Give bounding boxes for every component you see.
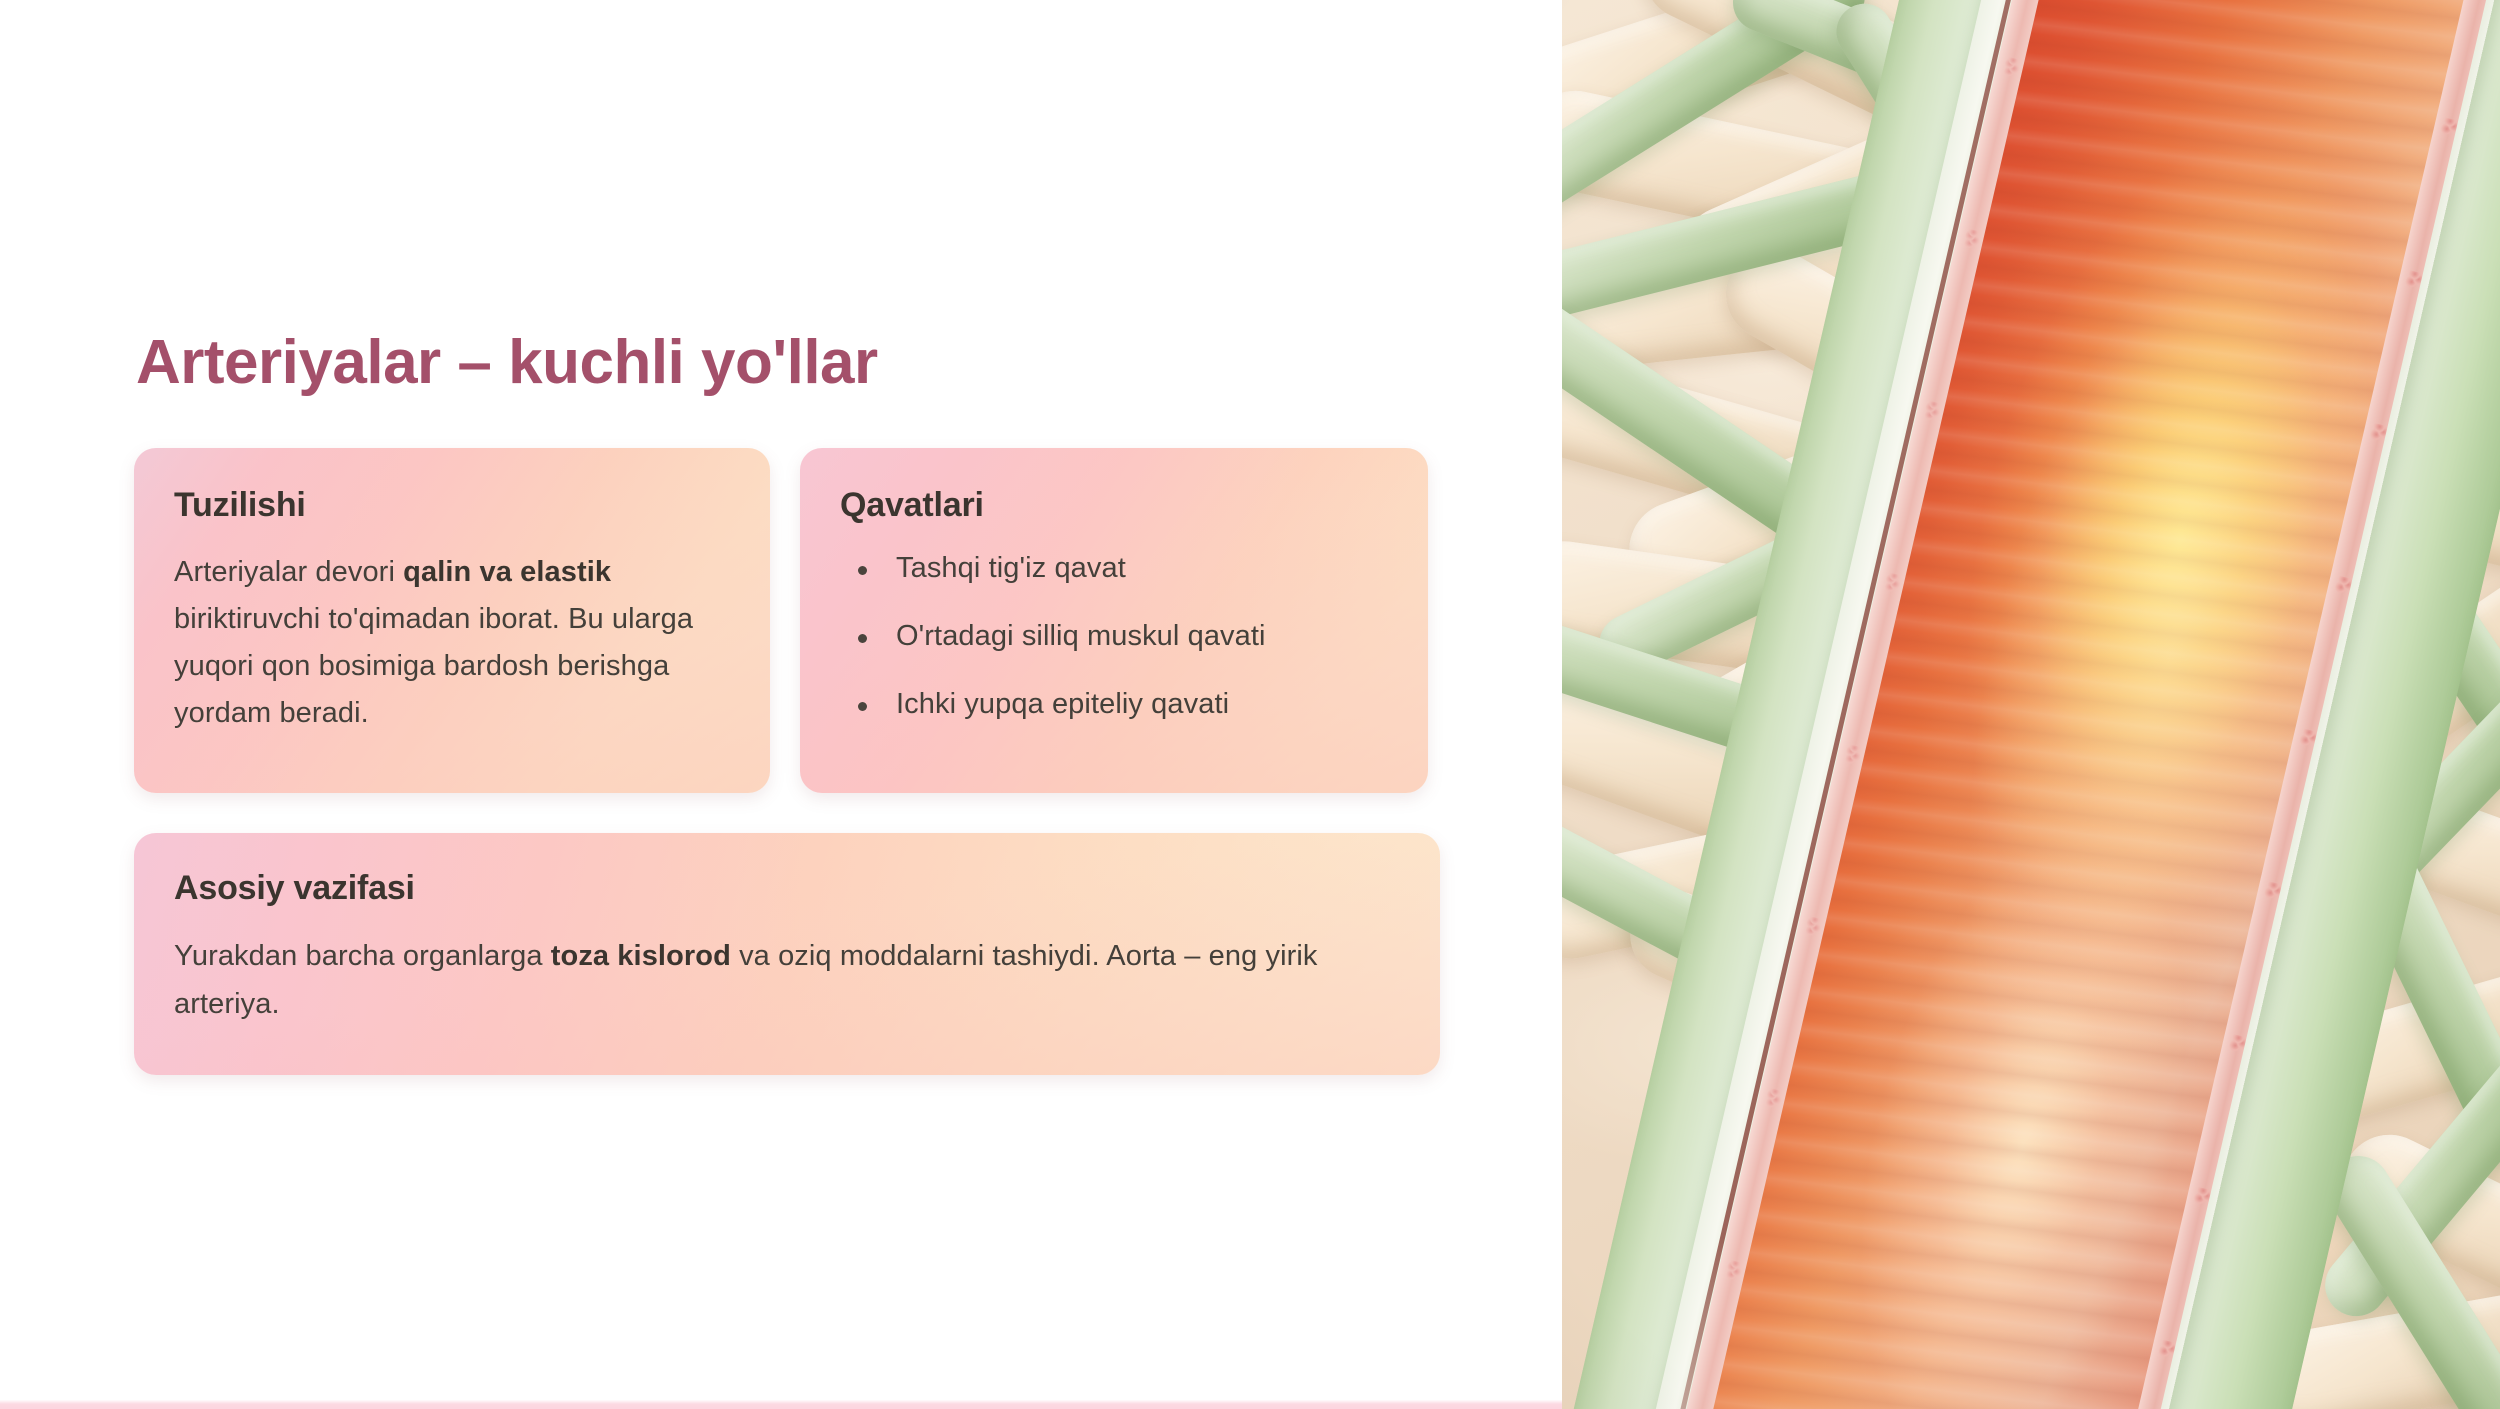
qavatlari-bullet-list: Tashqi tig'iz qavat O'rtadagi silliq mus… — [840, 549, 1388, 724]
card-qavatlari-inner: Qavatlari Tashqi tig'iz qavat O'rtadagi … — [800, 448, 1428, 793]
list-item: O'rtadagi silliq muskul qavati — [840, 617, 1388, 656]
bottom-accent-bar — [0, 1400, 1562, 1409]
card-tuzilishi-title: Tuzilishi — [174, 486, 730, 525]
card-asosiy-vazifasi: Asosiy vazifasi Yurakdan barcha organlar… — [134, 833, 1440, 1075]
card-tuzilishi-body-emphasis: qalin va elastik — [403, 556, 611, 588]
list-item-label: Ichki yupqa epiteliy qavati — [896, 688, 1229, 720]
card-tuzilishi-body-prefix: Arteriyalar devori — [174, 556, 403, 588]
list-item-label: Tashqi tig'iz qavat — [896, 552, 1126, 584]
list-item: Tashqi tig'iz qavat — [840, 549, 1388, 588]
card-tuzilishi-body: Arteriyalar devori qalin va elastik biri… — [174, 549, 730, 737]
card-asosiy-vazifasi-body-emphasis: toza kislorod — [551, 940, 731, 972]
card-tuzilishi: Tuzilishi Arteriyalar devori qalin va el… — [134, 448, 770, 793]
content-pane: Arteriyalar – kuchli yo'llar Tuzilishi A… — [0, 0, 1562, 1409]
card-qavatlari-title: Qavatlari — [840, 486, 1388, 525]
illustration-pane — [1562, 0, 2500, 1409]
card-tuzilishi-inner: Tuzilishi Arteriyalar devori qalin va el… — [134, 448, 770, 793]
list-item-label: O'rtadagi silliq muskul qavati — [896, 620, 1266, 652]
artery-cross-section-illustration — [1562, 0, 2500, 1409]
card-asosiy-vazifasi-body-prefix: Yurakdan barcha organlarga — [174, 940, 551, 972]
bullet-dot-icon — [858, 634, 867, 643]
card-qavatlari: Qavatlari Tashqi tig'iz qavat O'rtadagi … — [800, 448, 1428, 793]
page-title: Arteriyalar – kuchli yo'llar — [136, 327, 878, 398]
bullet-dot-icon — [858, 702, 867, 711]
card-asosiy-vazifasi-title: Asosiy vazifasi — [174, 869, 1400, 908]
list-item: Ichki yupqa epiteliy qavati — [840, 685, 1388, 724]
bullet-dot-icon — [858, 566, 867, 575]
slide-canvas: Arteriyalar – kuchli yo'llar Tuzilishi A… — [0, 0, 2500, 1409]
card-asosiy-vazifasi-inner: Asosiy vazifasi Yurakdan barcha organlar… — [134, 833, 1440, 1075]
card-tuzilishi-body-suffix: biriktiruvchi to'qimadan iborat. Bu ular… — [174, 603, 693, 729]
card-asosiy-vazifasi-body: Yurakdan barcha organlarga toza kislorod… — [174, 932, 1354, 1028]
